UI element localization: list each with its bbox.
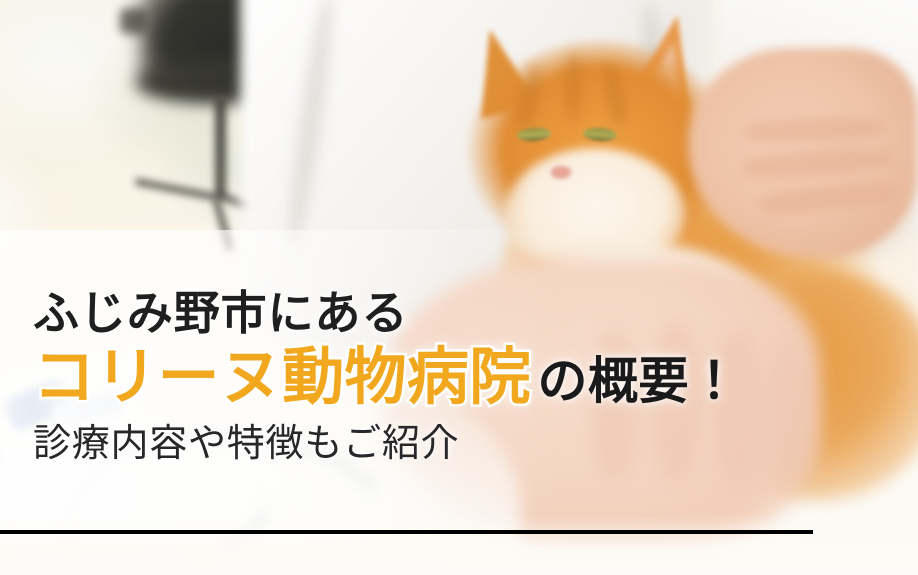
bottom-fade-veil [0, 515, 918, 575]
headline-prefix: ふじみ野市にある [33, 288, 893, 340]
office-chair-post [215, 98, 226, 198]
hero-banner: ふじみ野市にある コリーヌ動物病院の概要！ 診療内容や特徴もご紹介 [0, 0, 918, 575]
office-chair-armrest [120, 8, 148, 34]
headline-main-line: コリーヌ動物病院の概要！ [33, 344, 893, 412]
subheadline: 診療内容や特徴もご紹介 [33, 424, 893, 466]
cat-forehead-stripe [566, 52, 582, 124]
cat-nose [551, 166, 571, 179]
bottom-divider-rule [0, 530, 813, 534]
clinic-name-highlight: コリーヌ動物病院 [33, 343, 531, 412]
headline-block: ふじみ野市にある コリーヌ動物病院の概要！ 診療内容や特徴もご紹介 [33, 288, 893, 466]
headline-suffix: の概要！ [537, 353, 739, 409]
